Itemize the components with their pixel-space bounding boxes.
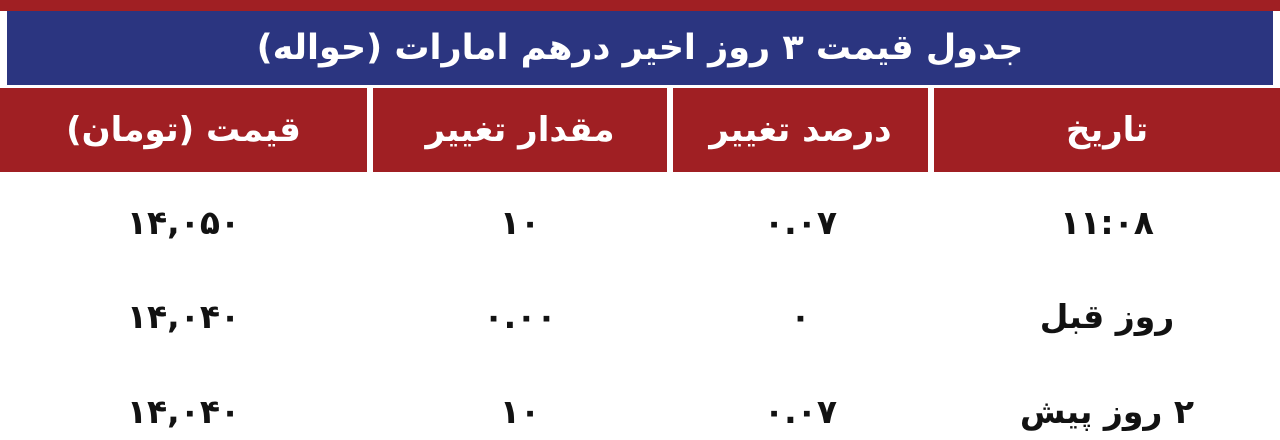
page-title: جدول قیمت ۳ روز اخیر درهم امارات (حواله) xyxy=(257,31,1024,66)
column-header-amount: مقدار تغییر xyxy=(373,88,667,172)
top-accent-strip xyxy=(0,0,1280,11)
cell-date: ۲ روز پیش xyxy=(934,366,1280,440)
price-table-screen: جدول قیمت ۳ روز اخیر درهم امارات (حواله)… xyxy=(0,0,1280,440)
column-header-date: تاریخ xyxy=(934,88,1280,172)
column-header-percent: درصد تغییر xyxy=(673,88,928,172)
cell-price: ۱۴,۰۴۰ xyxy=(0,366,367,440)
cell-amount: ۱۰ xyxy=(373,178,667,266)
table-row: ۱۱:۰۸ ۰.۰۷ ۱۰ ۱۴,۰۵۰ xyxy=(0,178,1280,266)
table-row: ۲ روز پیش ۰.۰۷ ۱۰ ۱۴,۰۴۰ xyxy=(0,366,1280,440)
cell-percent: ۰ xyxy=(673,272,928,360)
cell-date: روز قبل xyxy=(934,272,1280,360)
cell-price: ۱۴,۰۴۰ xyxy=(0,272,367,360)
table-header-row: تاریخ درصد تغییر مقدار تغییر قیمت (تومان… xyxy=(0,88,1280,172)
price-table: تاریخ درصد تغییر مقدار تغییر قیمت (تومان… xyxy=(0,88,1280,440)
cell-amount: ۱۰ xyxy=(373,366,667,440)
cell-price: ۱۴,۰۵۰ xyxy=(0,178,367,266)
cell-amount: ۰.۰۰ xyxy=(373,272,667,360)
cell-date: ۱۱:۰۸ xyxy=(934,178,1280,266)
table-row: روز قبل ۰ ۰.۰۰ ۱۴,۰۴۰ xyxy=(0,272,1280,360)
table-title-bar: جدول قیمت ۳ روز اخیر درهم امارات (حواله) xyxy=(7,11,1273,85)
cell-percent: ۰.۰۷ xyxy=(673,366,928,440)
column-header-price: قیمت (تومان) xyxy=(0,88,367,172)
cell-percent: ۰.۰۷ xyxy=(673,178,928,266)
